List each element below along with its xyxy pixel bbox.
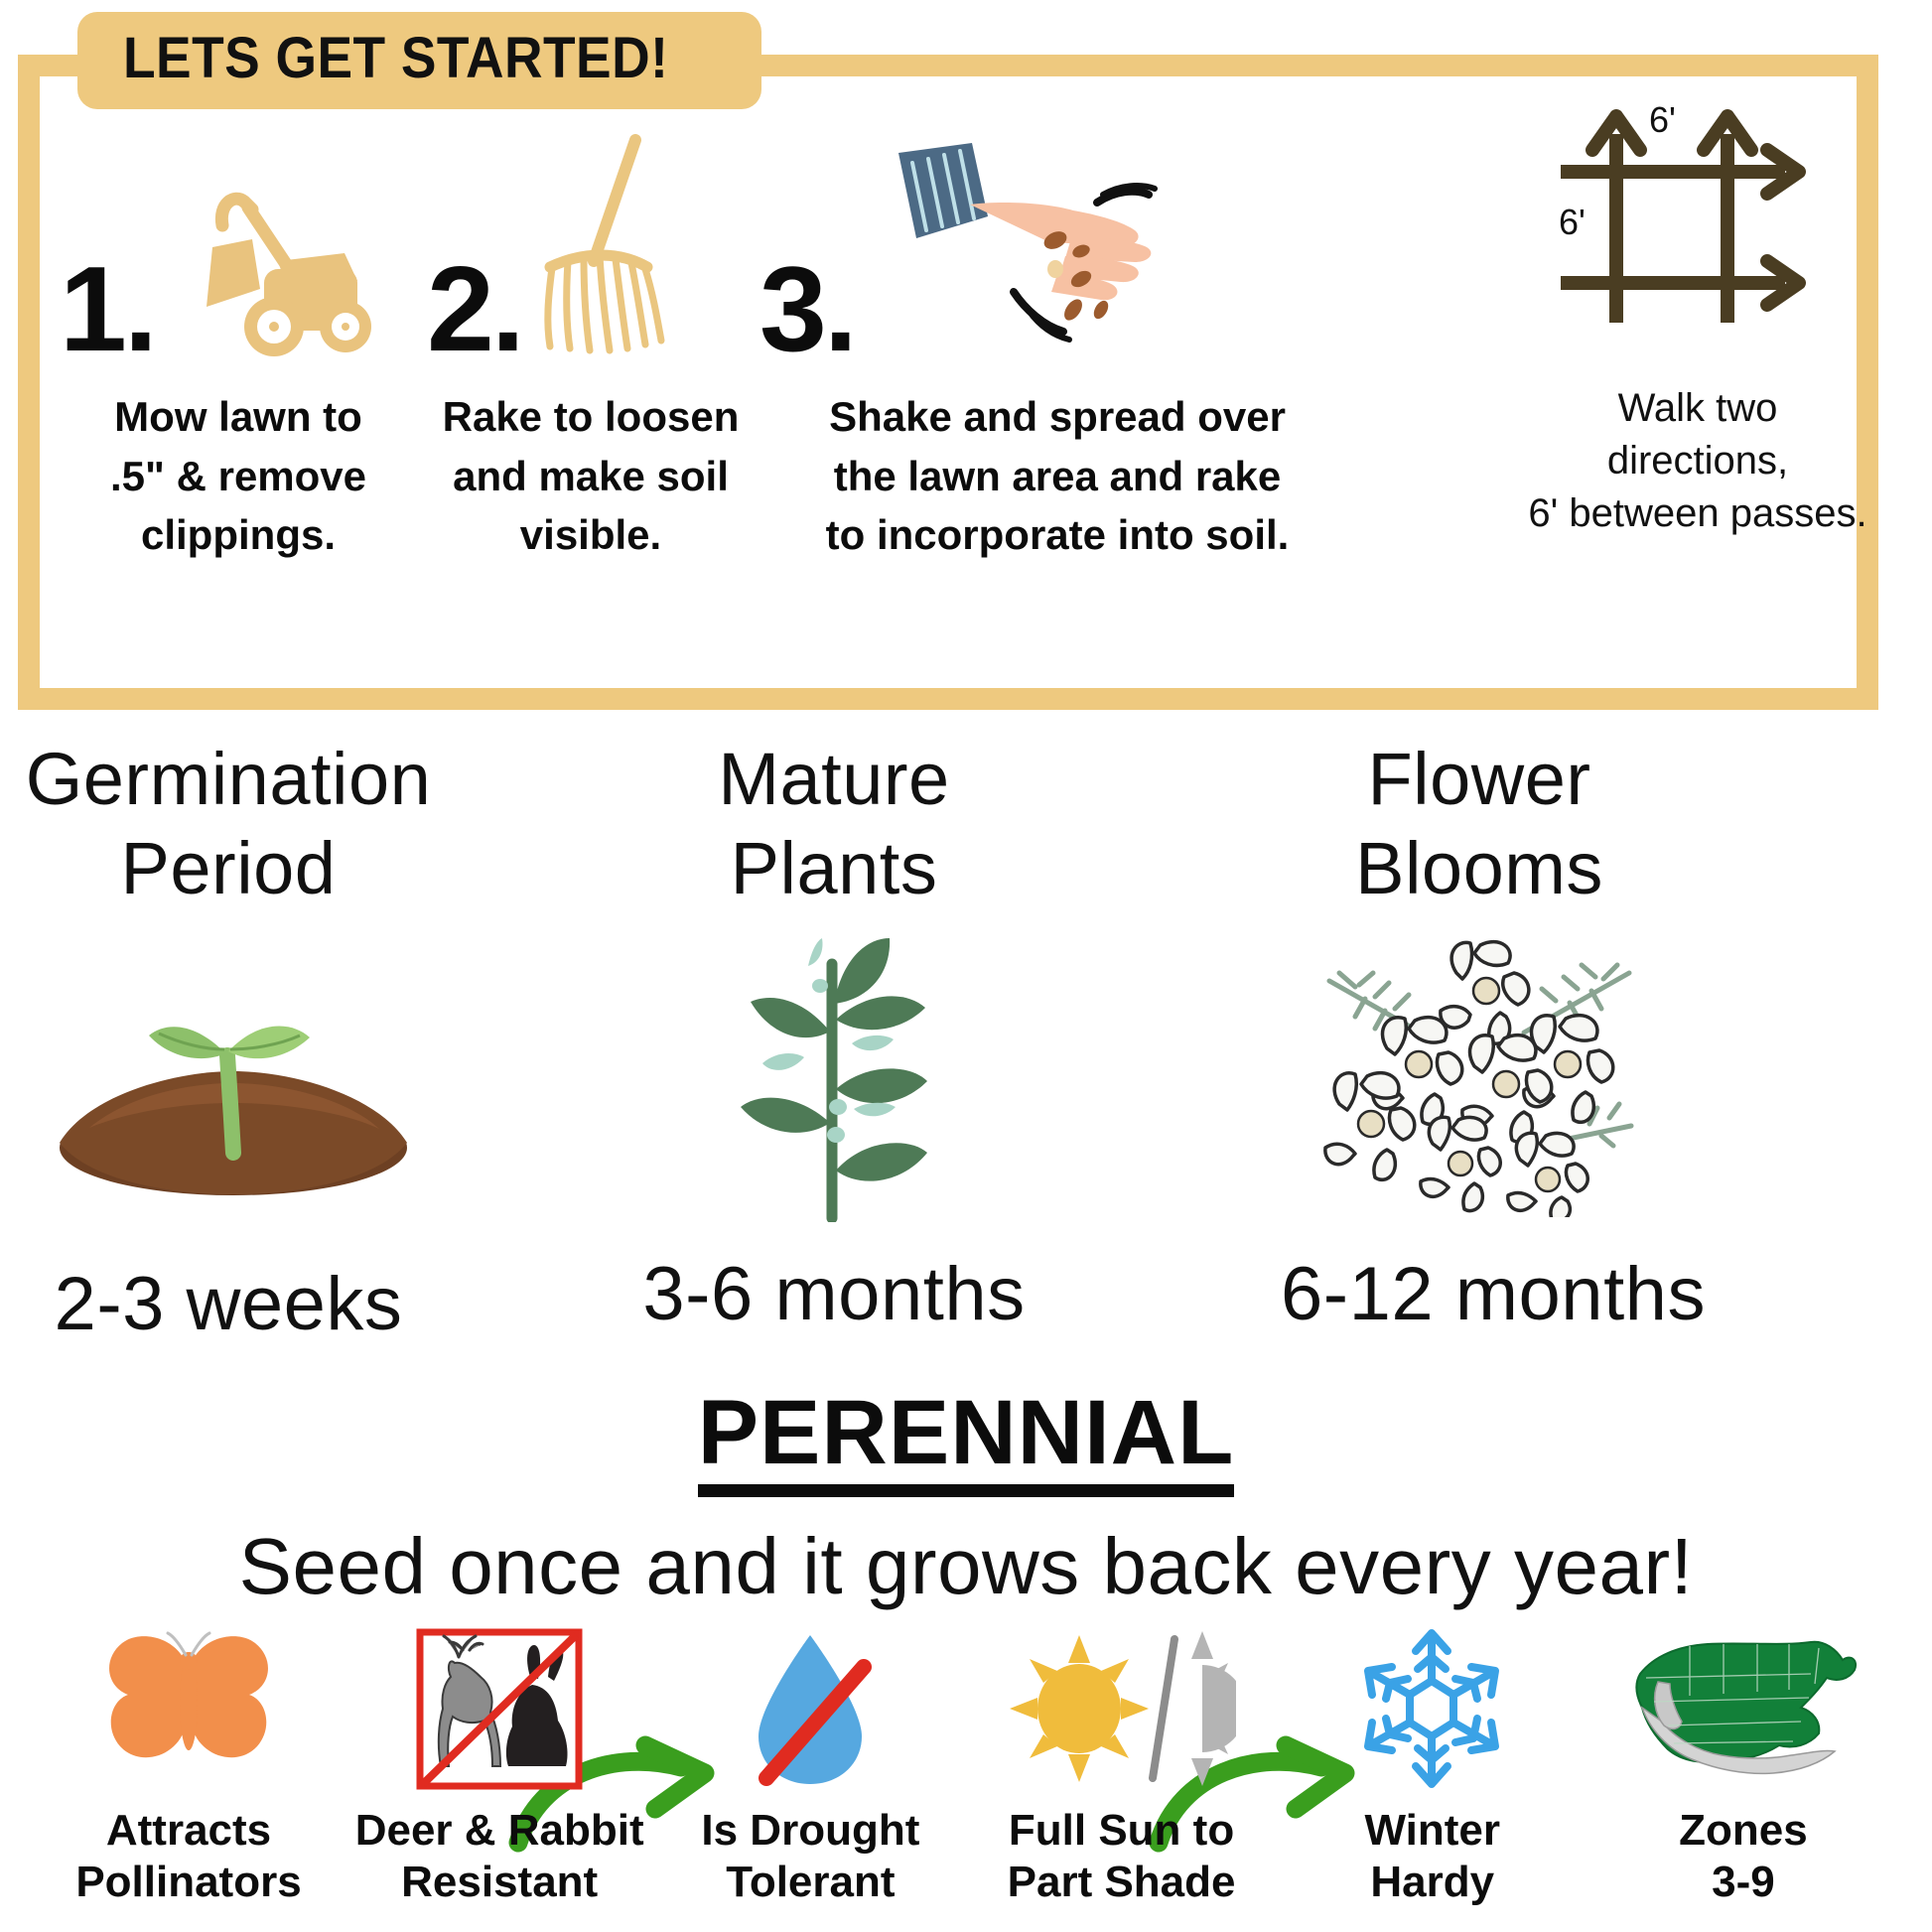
timeline-duration-0: 2-3 weeks [20,1261,437,1347]
timeline-stage-0-title: Germination Period [20,735,437,914]
no-deer-rabbit-icon [415,1627,584,1791]
feature-0-art [94,1624,283,1793]
timeline-stage-1-art [635,924,1033,1222]
get-started-badge-label: LETS GET STARTED! [123,30,668,87]
grid-caption: Walk two directions, 6' between passes. [1489,382,1906,541]
feature-deer-rabbit-resistant: Deer & Rabbit Resistant [350,1624,648,1932]
timeline-stage-2-art [1281,924,1678,1222]
perennial-title: PERENNIAL [698,1385,1235,1497]
step-2-text: Rake to loosen and make soil visible. [427,387,755,565]
feature-5-label: Zones 3-9 [1679,1805,1808,1908]
timeline-stage-1-title: Mature Plants [635,735,1033,914]
snowflake-icon [1350,1627,1514,1791]
feature-3-label: Full Sun to Part Shade [1008,1805,1236,1908]
sun-part-shade-icon [1008,1629,1236,1788]
step-1: 1. Mow lawn to .5" & remove clippings. [60,109,417,565]
timeline-duration-2: 6-12 months [1281,1251,1698,1337]
get-started-section: LETS GET STARTED! 1. [0,0,1932,730]
feature-2-art [741,1624,880,1793]
timeline-stage-0-art [20,924,437,1222]
grid-tick-left: 6' [1559,202,1586,243]
lawn-mower-icon [161,186,374,359]
feature-4-label: Winter Hardy [1365,1805,1501,1908]
step-3-text: Shake and spread over the lawn area and … [759,387,1355,565]
no-water-drop-icon [741,1627,880,1791]
step-3-icon-line: 3. [759,109,1355,367]
walking-pattern-grid-icon [1547,94,1845,392]
butterfly-icon [94,1629,283,1788]
feature-4-art [1350,1624,1514,1793]
seedling-in-soil-icon [30,944,427,1202]
step-2-icon-line: 2. [427,109,755,367]
white-flowers-icon [1315,929,1643,1217]
get-started-badge: LETS GET STARTED! [77,12,761,109]
leafy-plant-icon [715,924,953,1222]
feature-winter-hardy: Winter Hardy [1284,1624,1582,1932]
rake-icon [524,134,693,367]
step-1-icon-line: 1. [60,109,417,367]
usa-zone-map-icon [1624,1634,1863,1783]
feature-1-art [415,1624,584,1793]
timeline-stage-germination: Germination Period [20,735,437,1222]
feature-sun-part-shade: Full Sun to Part Shade [973,1624,1271,1932]
timeline-stage-mature: Mature Plants [635,735,1033,1222]
hand-spreading-seed-icon [861,139,1159,367]
timeline-stage-bloom: Flower Blooms [1281,735,1678,1222]
steps-row: 1. Mow lawn to .5" & remove clippings. [50,109,1489,665]
feature-2-label: Is Drought Tolerant [701,1805,919,1908]
feature-icon-row: Attracts Pollinators Deer & Rabbit Resis… [0,1624,1932,1932]
step-1-number: 1. [60,252,155,367]
step-1-text: Mow lawn to .5" & remove clippings. [60,387,417,565]
feature-zones: Zones 3-9 [1594,1624,1892,1932]
timeline-duration-1: 3-6 months [635,1251,1033,1337]
step-3: 3. [759,109,1355,565]
feature-0-label: Attracts Pollinators [75,1805,301,1908]
step-3-number: 3. [759,252,855,367]
feature-attracts-pollinators: Attracts Pollinators [40,1624,338,1932]
feature-drought-tolerant: Is Drought Tolerant [661,1624,959,1932]
step-2: 2. Rake to loosen and make soil vi [427,109,755,565]
step-2-number: 2. [427,252,522,367]
grid-tick-top: 6' [1649,99,1676,141]
feature-5-art [1624,1624,1863,1793]
feature-3-art [1008,1624,1236,1793]
feature-1-label: Deer & Rabbit Resistant [355,1805,644,1908]
perennial-subtitle: Seed once and it grows back every year! [0,1523,1932,1610]
timeline-stage-2-title: Flower Blooms [1281,735,1678,914]
perennial-banner: PERENNIAL Seed once and it grows back ev… [0,1385,1932,1610]
